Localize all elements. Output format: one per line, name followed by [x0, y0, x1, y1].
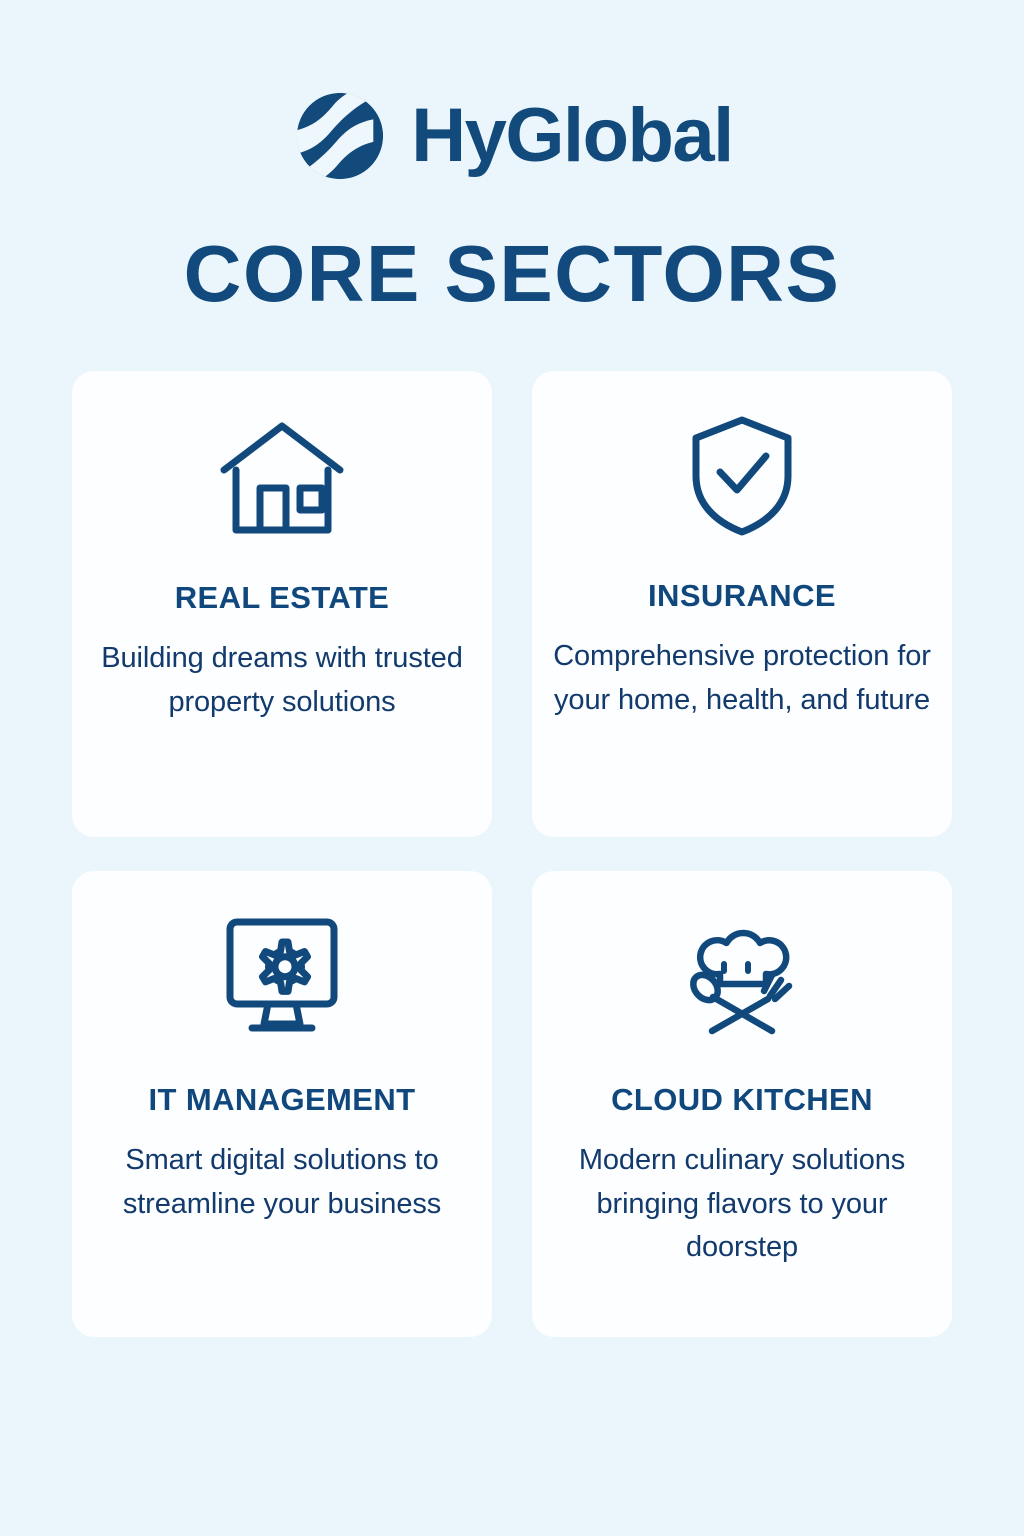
brand-wordmark: HyGlobal [411, 98, 733, 174]
house-icon [212, 409, 352, 545]
monitor-gear-icon [212, 907, 352, 1043]
sector-title: CLOUD KITCHEN [611, 1083, 873, 1117]
sector-description: Building dreams with trusted property so… [90, 637, 474, 724]
sector-title: INSURANCE [648, 579, 836, 613]
sector-card-it-management[interactable]: IT MANAGEMENT Smart digital solutions to… [72, 871, 492, 1337]
sector-card-cloud-kitchen[interactable]: CLOUD KITCHEN Modern culinary solutions … [532, 871, 952, 1337]
sector-description: Smart digital solutions to streamline yo… [90, 1139, 474, 1226]
sector-card-grid: REAL ESTATE Building dreams with trusted… [72, 371, 952, 1337]
page-title: CORE SECTORS [0, 232, 1024, 316]
shield-check-icon [672, 407, 812, 543]
sector-description: Modern culinary solutions bringing flavo… [550, 1139, 934, 1270]
chef-hat-utensils-icon [672, 907, 812, 1043]
sector-description: Comprehensive protection for your home, … [550, 635, 934, 722]
hyglobal-globe-swoosh-icon [291, 87, 389, 185]
sector-title: IT MANAGEMENT [149, 1083, 416, 1117]
sector-card-insurance[interactable]: INSURANCE Comprehensive protection for y… [532, 371, 952, 837]
sector-title: REAL ESTATE [175, 581, 390, 615]
sector-card-real-estate[interactable]: REAL ESTATE Building dreams with trusted… [72, 371, 492, 837]
brand-header: HyGlobal [0, 84, 1024, 188]
